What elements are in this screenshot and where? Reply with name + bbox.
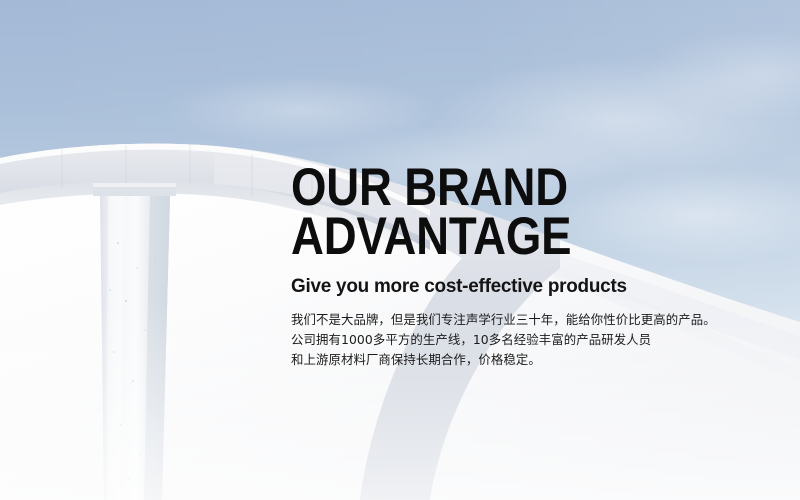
brand-advantage-banner: OUR BRAND ADVANTAGE Give you more cost-e… xyxy=(0,0,800,500)
copy-block: OUR BRAND ADVANTAGE Give you more cost-e… xyxy=(291,163,761,370)
body-line: 我们不是大品牌，但是我们专注声学行业三十年，能给你性价比更高的产品。 xyxy=(291,310,761,330)
body-line: 公司拥有1000多平方的生产线，10多名经验丰富的产品研发人员 xyxy=(291,330,761,350)
body-copy: 我们不是大品牌，但是我们专注声学行业三十年，能给你性价比更高的产品。 公司拥有1… xyxy=(291,310,761,370)
page-title: OUR BRAND ADVANTAGE xyxy=(291,163,695,261)
body-line: 和上游原材料厂商保持长期合作，价格稳定。 xyxy=(291,350,761,370)
subheadline: Give you more cost-effective products xyxy=(291,275,747,297)
